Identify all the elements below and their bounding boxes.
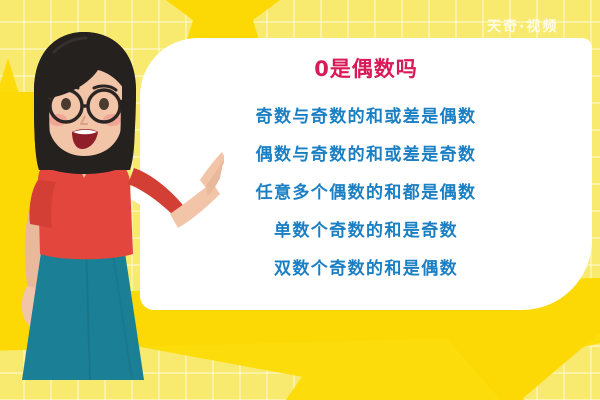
character-eye-left: [61, 98, 71, 110]
character-eye-right: [99, 98, 109, 110]
video-frame: 0是偶数吗 奇数与奇数的和或差是偶数 偶数与奇数的和或差是奇数 任意多个偶数的和…: [0, 0, 600, 400]
watermark: 天奇·视频: [487, 16, 558, 36]
presenter-character-icon: [0, 28, 224, 400]
character-skirt: [22, 246, 144, 380]
